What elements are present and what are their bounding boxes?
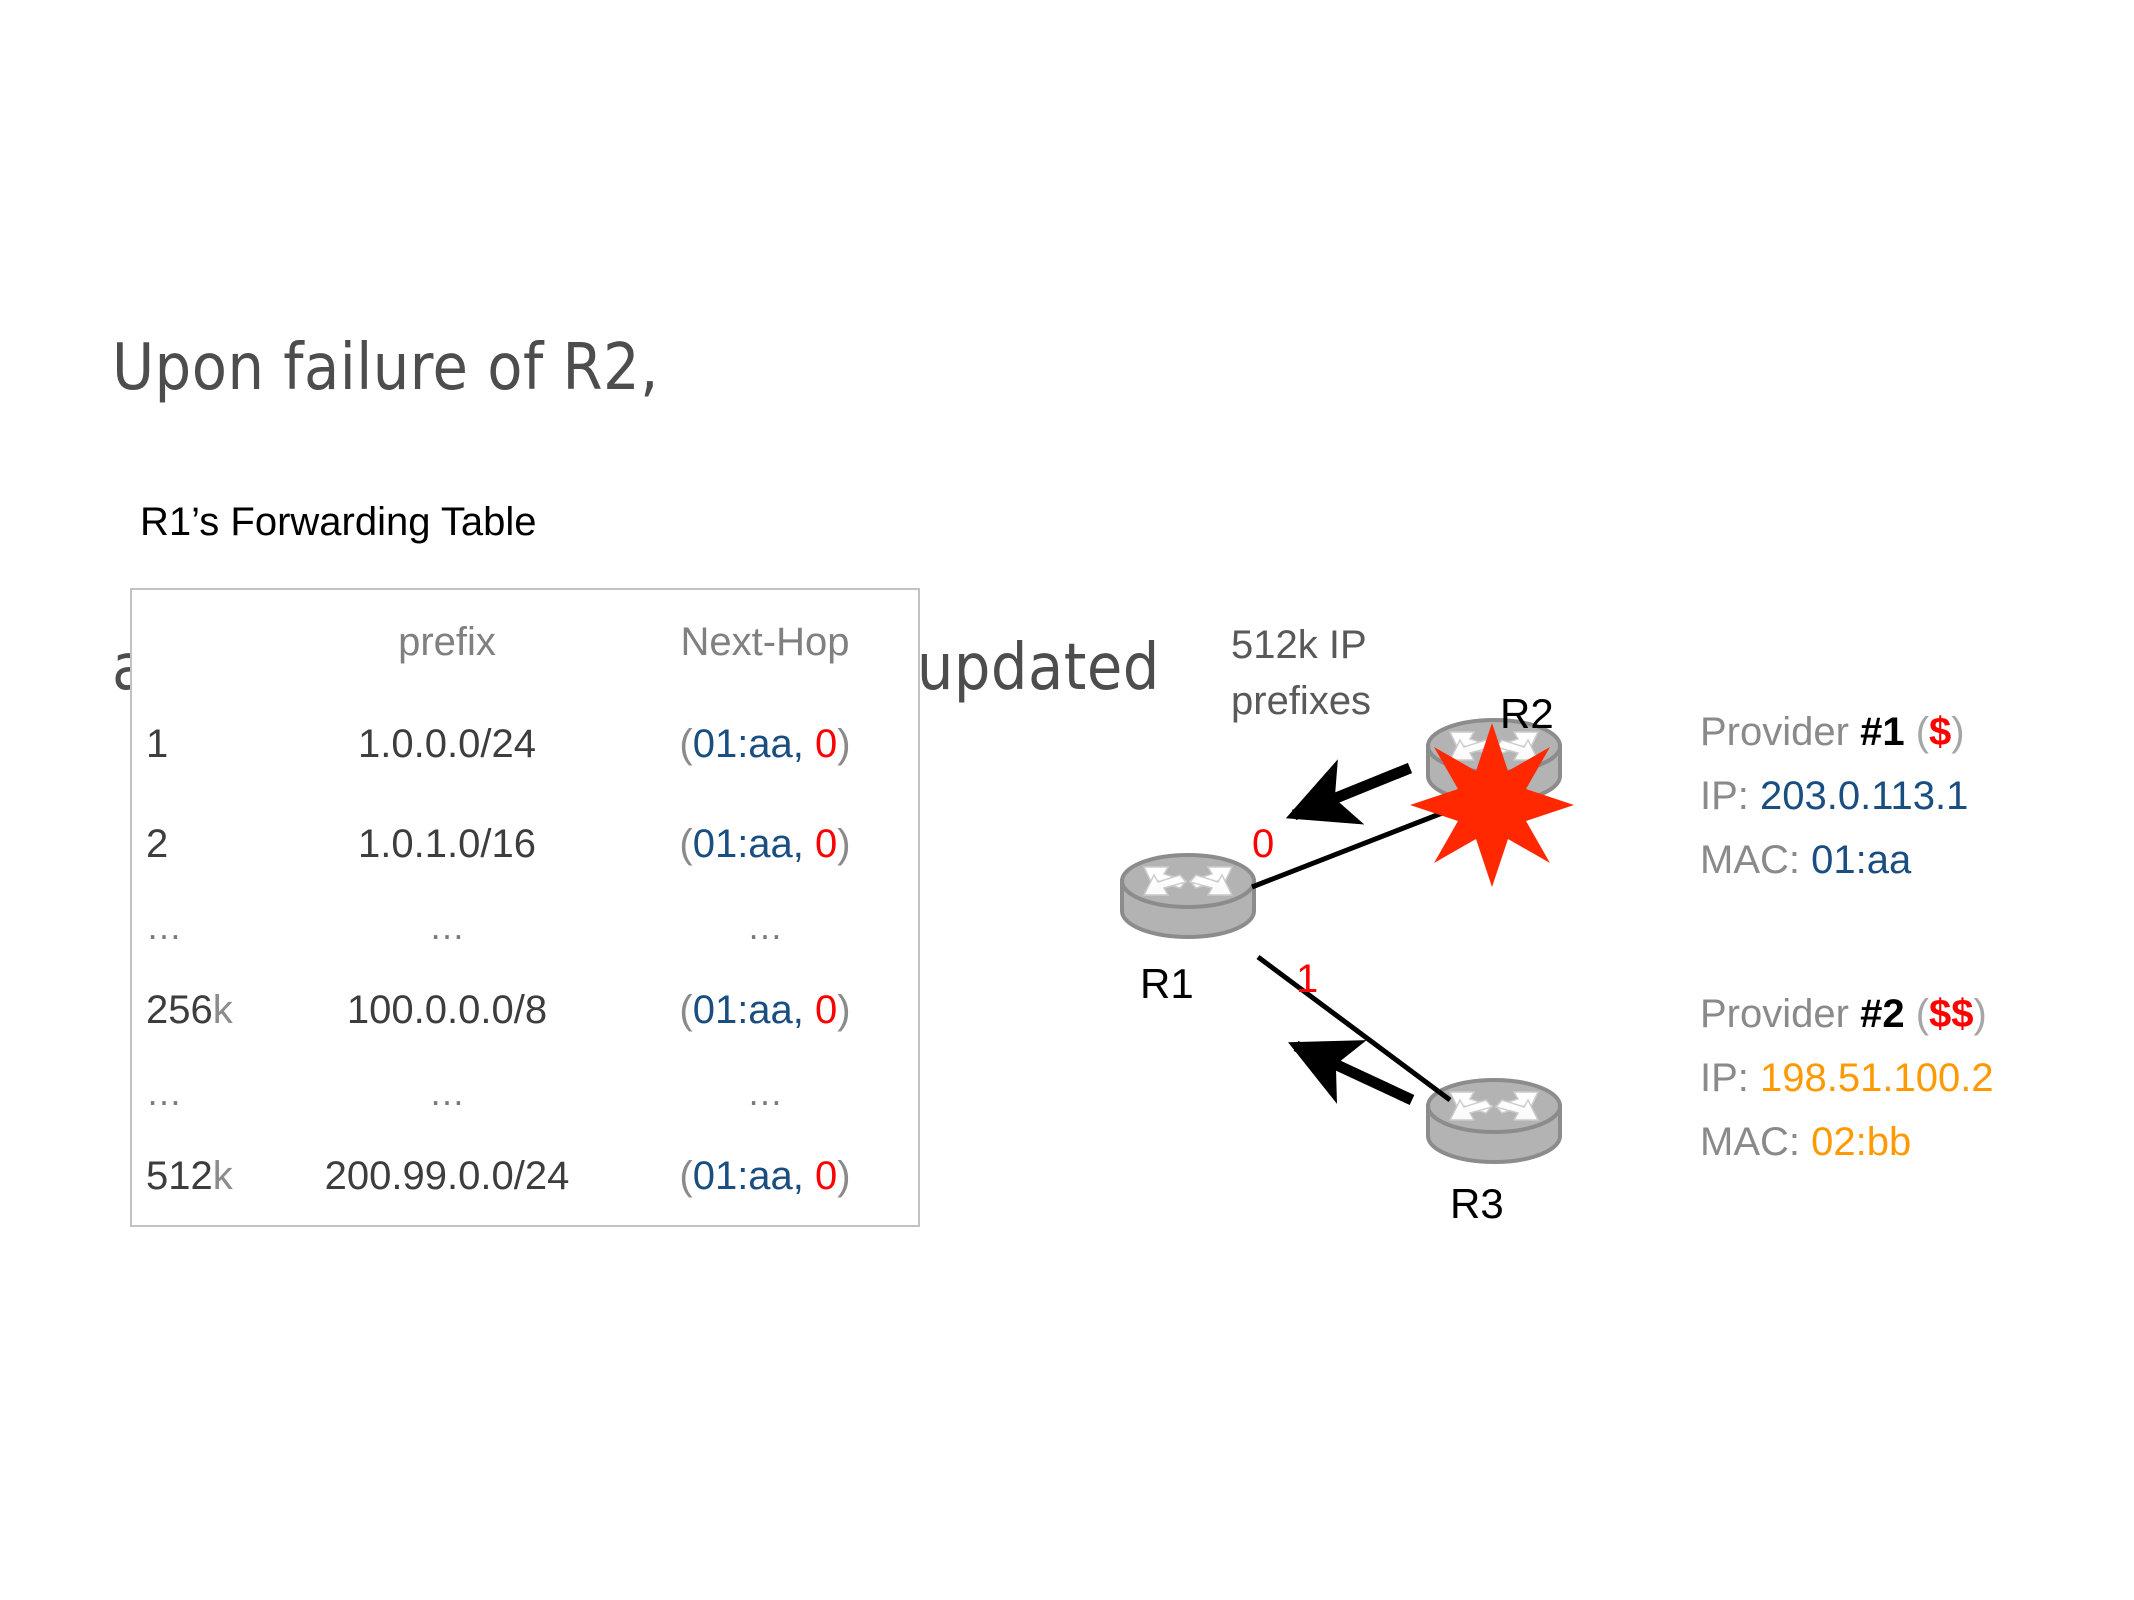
cell-prefix: 1.0.1.0/16 [282, 794, 612, 894]
cell-next-hop: (01:aa, 0) [612, 794, 918, 894]
cell-index: … [132, 894, 282, 960]
router-label-r3: R3 [1450, 1180, 1504, 1228]
network-diagram: R2 R1 R3 0 1 [1100, 560, 1800, 1200]
table-row-ellipsis: … … … [132, 894, 918, 960]
table-row: 1 1.0.0.0/24 (01:aa, 0) [132, 694, 918, 794]
provider-2-mac: MAC: 02:bb [1700, 1110, 1994, 1174]
col-header-next-hop: Next-Hop [612, 590, 918, 694]
cell-index: 1 [132, 694, 282, 794]
col-header-index [132, 590, 282, 694]
provider-info-1: Provider #1 ($) IP: 203.0.113.1 MAC: 01:… [1700, 700, 1968, 892]
cost-indicator-2: $$ [1929, 992, 1974, 1036]
cell-index: 2 [132, 794, 282, 894]
router-label-r2: R2 [1500, 690, 1554, 738]
cell-next-hop: (01:aa, 0) [612, 1126, 918, 1226]
provider-2-title: Provider #2 ($$) [1700, 982, 1994, 1046]
provider-1-ip: IP: 203.0.113.1 [1700, 764, 1968, 828]
forwarding-table-caption: R1’s Forwarding Table [140, 500, 537, 545]
col-header-prefix: prefix [282, 590, 612, 694]
provider-2-ip: IP: 198.51.100.2 [1700, 1046, 1994, 1110]
port-label-1: 1 [1296, 957, 1318, 1002]
cell-next-hop: (01:aa, 0) [612, 960, 918, 1060]
cell-index: … [132, 1060, 282, 1126]
title-line-1: Upon failure of R2, [112, 318, 1712, 418]
port-label-0: 0 [1252, 822, 1274, 867]
table-row: 512k 200.99.0.0/24 (01:aa, 0) [132, 1126, 918, 1226]
cell-next-hop: … [612, 1060, 918, 1126]
index-suffix: k [213, 1154, 233, 1198]
router-icon-r3 [1428, 1080, 1560, 1162]
provider-info-2: Provider #2 ($$) IP: 198.51.100.2 MAC: 0… [1700, 982, 1994, 1174]
cost-indicator-1: $ [1929, 710, 1951, 754]
cell-next-hop: … [612, 894, 918, 960]
cell-prefix: … [282, 894, 612, 960]
cell-prefix: … [282, 1060, 612, 1126]
router-label-r1: R1 [1140, 960, 1194, 1008]
cell-prefix: 100.0.0.0/8 [282, 960, 612, 1060]
traffic-arrow-from-r2 [1294, 768, 1410, 815]
forwarding-table-box: prefix Next-Hop 1 1.0.0.0/24 (01:aa, 0) … [130, 588, 920, 1227]
table-row: 2 1.0.1.0/16 (01:aa, 0) [132, 794, 918, 894]
forwarding-table: prefix Next-Hop 1 1.0.0.0/24 (01:aa, 0) … [132, 590, 918, 1226]
cell-prefix: 200.99.0.0/24 [282, 1126, 612, 1226]
provider-1-title: Provider #1 ($) [1700, 700, 1968, 764]
explosion-icon [1410, 723, 1574, 887]
cell-prefix: 1.0.0.0/24 [282, 694, 612, 794]
table-row: 256k 100.0.0.0/8 (01:aa, 0) [132, 960, 918, 1060]
router-icon-r1 [1122, 855, 1254, 937]
index-suffix: k [213, 988, 233, 1032]
cell-index: 256k [132, 960, 282, 1060]
cell-index: 512k [132, 1126, 282, 1226]
table-header-row: prefix Next-Hop [132, 590, 918, 694]
provider-1-mac: MAC: 01:aa [1700, 828, 1968, 892]
table-row-ellipsis: … … … [132, 1060, 918, 1126]
cell-next-hop: (01:aa, 0) [612, 694, 918, 794]
link-r1-r2 [1252, 810, 1450, 887]
traffic-arrow-from-r3-line [1296, 1046, 1412, 1100]
